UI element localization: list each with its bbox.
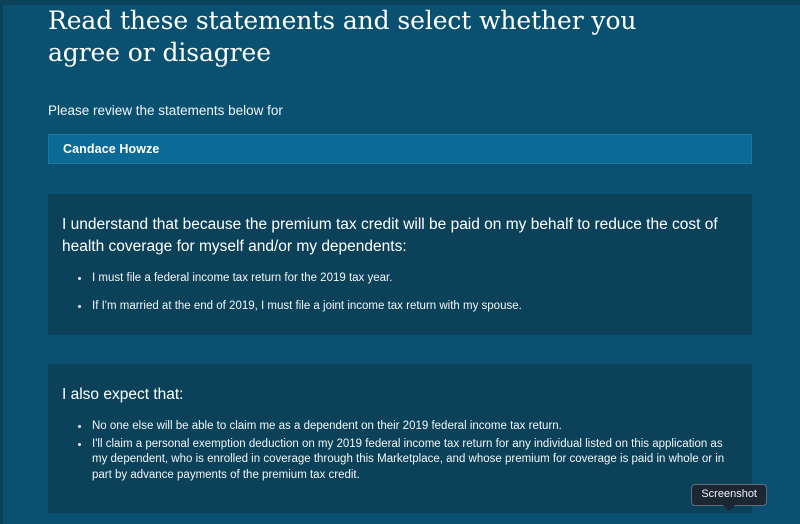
list-item: If I'm married at the end of 2019, I mus… bbox=[92, 299, 738, 315]
statement-panel-2-list: No one else will be able to claim me as … bbox=[62, 419, 738, 483]
intro-text: Please review the statements below for bbox=[48, 102, 752, 120]
statements-page: Read these statements and select whether… bbox=[0, 0, 800, 524]
statement-panel-1-list: I must file a federal income tax return … bbox=[62, 271, 738, 314]
applicant-name-banner: Candace Howze bbox=[48, 134, 752, 164]
screenshot-tooltip[interactable]: Screenshot bbox=[691, 484, 767, 506]
statement-panel-2: I also expect that: No one else will be … bbox=[48, 364, 752, 513]
statement-panel-2-heading: I also expect that: bbox=[62, 384, 738, 406]
statement-panel-1: I understand that because the premium ta… bbox=[48, 194, 752, 335]
list-item: I must file a federal income tax return … bbox=[92, 271, 738, 287]
list-item: No one else will be able to claim me as … bbox=[92, 419, 738, 435]
page-title: Read these statements and select whether… bbox=[48, 0, 688, 69]
statement-panel-1-heading: I understand that because the premium ta… bbox=[62, 214, 738, 258]
applicant-name: Candace Howze bbox=[63, 142, 159, 156]
list-item: I'll claim a personal exemption deductio… bbox=[92, 437, 738, 484]
